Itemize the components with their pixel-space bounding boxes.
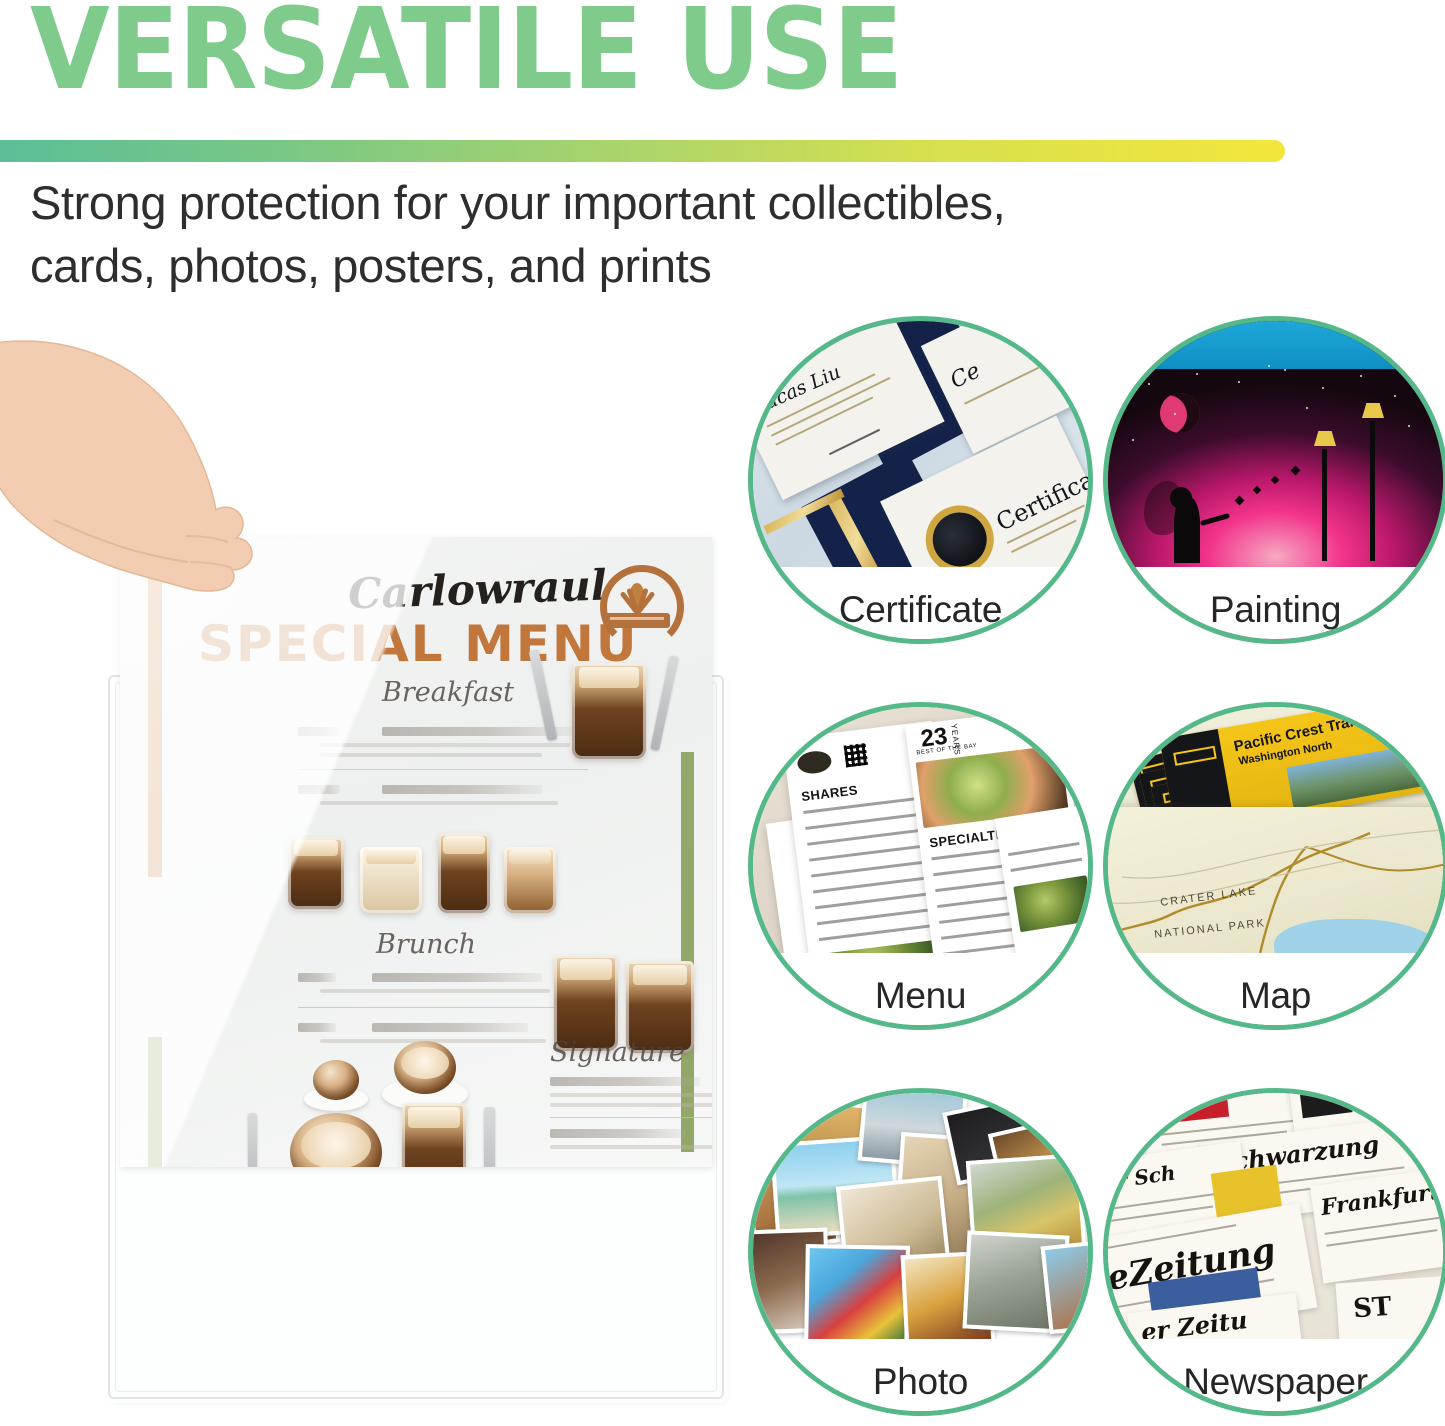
use-case-label: Menu — [753, 972, 1088, 1017]
menu-section-heading: Brunch — [376, 929, 476, 960]
coffee-crest-icon — [594, 559, 680, 645]
menu-section-heading: Signature — [550, 1037, 685, 1068]
use-case-painting[interactable]: Painting — [1103, 316, 1445, 644]
newspaper-masthead-2: Frankfurt — [1319, 1179, 1441, 1221]
product-marketing-page: VERSATILE USE Strong protection for your… — [0, 0, 1445, 1426]
gradient-divider — [0, 140, 1285, 162]
use-case-photo[interactable]: Photo — [748, 1088, 1093, 1416]
subtitle-line-2: cards, photos, posters, and prints — [30, 235, 1350, 298]
use-case-map[interactable]: Pacific Crest Trail Washington North CRA… — [1103, 702, 1445, 1030]
product-photo: Carlowraul SPECIAL MENU Breakfast — [0, 330, 740, 1426]
menu-shares-heading: SHARES — [801, 782, 859, 804]
use-case-label: Painting — [1108, 586, 1443, 631]
menu-sheet: Carlowraul SPECIAL MENU Breakfast — [120, 537, 712, 1167]
menu-green-bar-right — [681, 752, 694, 1152]
hand-icon — [0, 330, 320, 610]
use-case-menu[interactable]: SHARES 23 YEARS — [748, 702, 1093, 1030]
use-case-certificate[interactable]: Lucas Liu Ce Certificate — [748, 316, 1093, 644]
menu-script-word: Carlowraul — [347, 561, 607, 619]
menu-section-heading: Breakfast — [382, 677, 514, 708]
use-case-label: Newspaper — [1108, 1358, 1443, 1403]
use-case-label: Certificate — [753, 586, 1088, 631]
subtitle-line-1: Strong protection for your important col… — [30, 172, 1350, 235]
page-headline: VERSATILE USE — [30, 0, 902, 106]
use-case-grid: Lucas Liu Ce Certificate — [740, 310, 1445, 1426]
menu-green-bar-left — [148, 1037, 162, 1167]
use-case-newspaper[interactable]: Schwarzung er Sch Frankfurt eZ — [1103, 1088, 1445, 1416]
use-case-label: Photo — [753, 1358, 1088, 1403]
page-subtitle: Strong protection for your important col… — [30, 172, 1350, 297]
use-case-label: Map — [1108, 972, 1443, 1017]
